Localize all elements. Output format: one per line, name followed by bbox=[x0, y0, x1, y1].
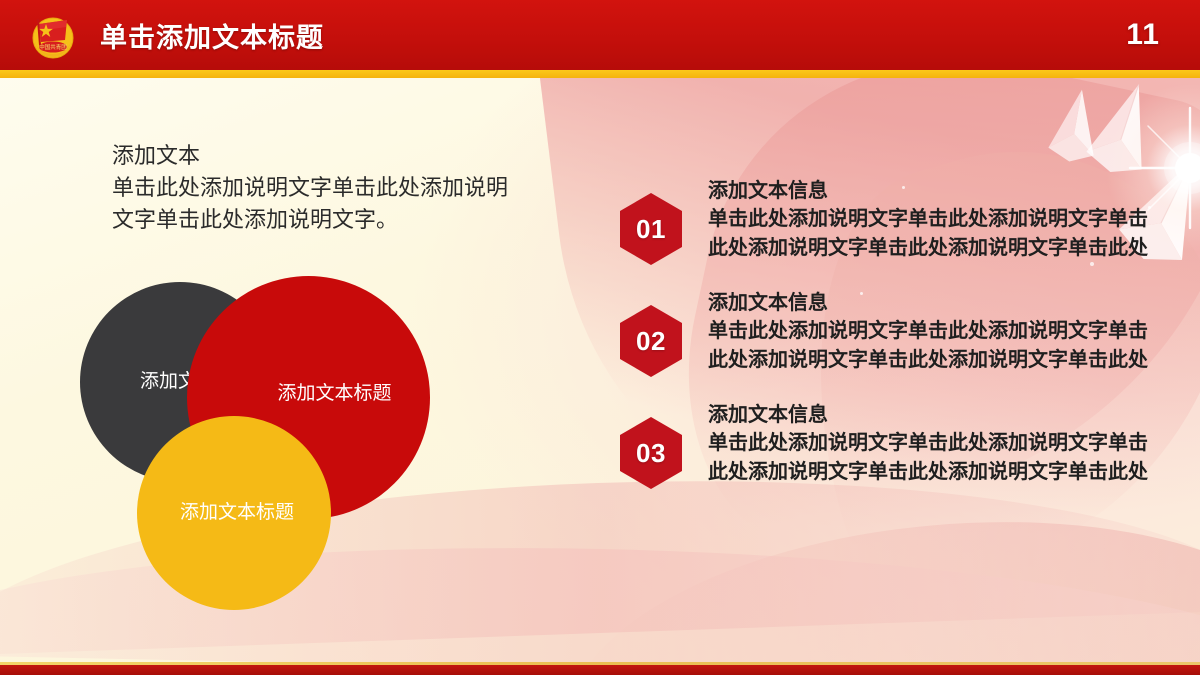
left-text-block: 添加文本 单击此处添加说明文字单击此处添加说明文字单击此处添加说明文字。 bbox=[112, 140, 512, 236]
list-item-body: 单击此处添加说明文字单击此处添加说明文字单击此处添加说明文字单击此处添加说明文字… bbox=[708, 317, 1156, 374]
paper-airplane-icon-3 bbox=[1040, 86, 1110, 172]
numbered-list: 01 添加文本信息 单击此处添加说明文字单击此处添加说明文字单击此处添加说明文字… bbox=[616, 175, 1156, 511]
list-item-text: 添加文本信息 单击此处添加说明文字单击此处添加说明文字单击此处添加说明文字单击此… bbox=[686, 399, 1156, 486]
list-item-body: 单击此处添加说明文字单击此处添加说明文字单击此处添加说明文字单击此处添加说明文字… bbox=[708, 205, 1156, 262]
intro-title: 添加文本 bbox=[112, 140, 512, 172]
hex-number: 01 bbox=[636, 214, 666, 245]
list-item[interactable]: 02 添加文本信息 单击此处添加说明文字单击此处添加说明文字单击此处添加说明文字… bbox=[616, 287, 1156, 377]
hex-badge-wrap: 01 bbox=[616, 175, 686, 265]
venn-diagram: 添加文本标题 添加文本标题 添加文本标题 bbox=[80, 282, 480, 642]
intro-body: 单击此处添加说明文字单击此处添加说明文字单击此处添加说明文字。 bbox=[112, 172, 512, 236]
slide-header: 中国共青团 单击添加文本标题 11 bbox=[0, 0, 1200, 70]
header-accent-bar bbox=[0, 70, 1200, 78]
list-item-title: 添加文本信息 bbox=[708, 289, 1156, 317]
hexagon-badge-03[interactable]: 03 bbox=[620, 417, 682, 489]
venn-circle-red-label: 添加文本标题 bbox=[277, 381, 391, 406]
paper-airplane-icon-1 bbox=[1078, 78, 1168, 188]
hexagon-badge-02[interactable]: 02 bbox=[620, 305, 682, 377]
hexagon-badge-01[interactable]: 01 bbox=[620, 193, 682, 265]
list-item-body: 单击此处添加说明文字单击此处添加说明文字单击此处添加说明文字单击此处添加说明文字… bbox=[708, 429, 1156, 486]
hex-number: 02 bbox=[636, 326, 666, 357]
list-item-text: 添加文本信息 单击此处添加说明文字单击此处添加说明文字单击此处添加说明文字单击此… bbox=[686, 287, 1156, 374]
footer-red-bar bbox=[0, 665, 1200, 675]
hex-badge-wrap: 03 bbox=[616, 399, 686, 489]
slide-canvas: 中国共青团 单击添加文本标题 11 添加文本 单击此处添加说明文字单击此处添加说… bbox=[0, 0, 1200, 675]
list-item-title: 添加文本信息 bbox=[708, 401, 1156, 429]
communist-youth-league-emblem: 中国共青团 bbox=[28, 10, 78, 60]
list-item-text: 添加文本信息 单击此处添加说明文字单击此处添加说明文字单击此处添加说明文字单击此… bbox=[686, 175, 1156, 262]
hex-badge-wrap: 02 bbox=[616, 287, 686, 377]
wave-shape-3 bbox=[554, 492, 1200, 675]
list-item-title: 添加文本信息 bbox=[708, 177, 1156, 205]
hex-number: 03 bbox=[636, 438, 666, 469]
list-item[interactable]: 03 添加文本信息 单击此处添加说明文字单击此处添加说明文字单击此处添加说明文字… bbox=[616, 399, 1156, 489]
list-item[interactable]: 01 添加文本信息 单击此处添加说明文字单击此处添加说明文字单击此处添加说明文字… bbox=[616, 175, 1156, 265]
venn-circle-yellow-label: 添加文本标题 bbox=[180, 500, 294, 525]
venn-circle-yellow[interactable]: 添加文本标题 bbox=[137, 416, 331, 610]
page-number: 11 bbox=[1126, 18, 1160, 52]
page-title: 单击添加文本标题 bbox=[100, 16, 324, 55]
